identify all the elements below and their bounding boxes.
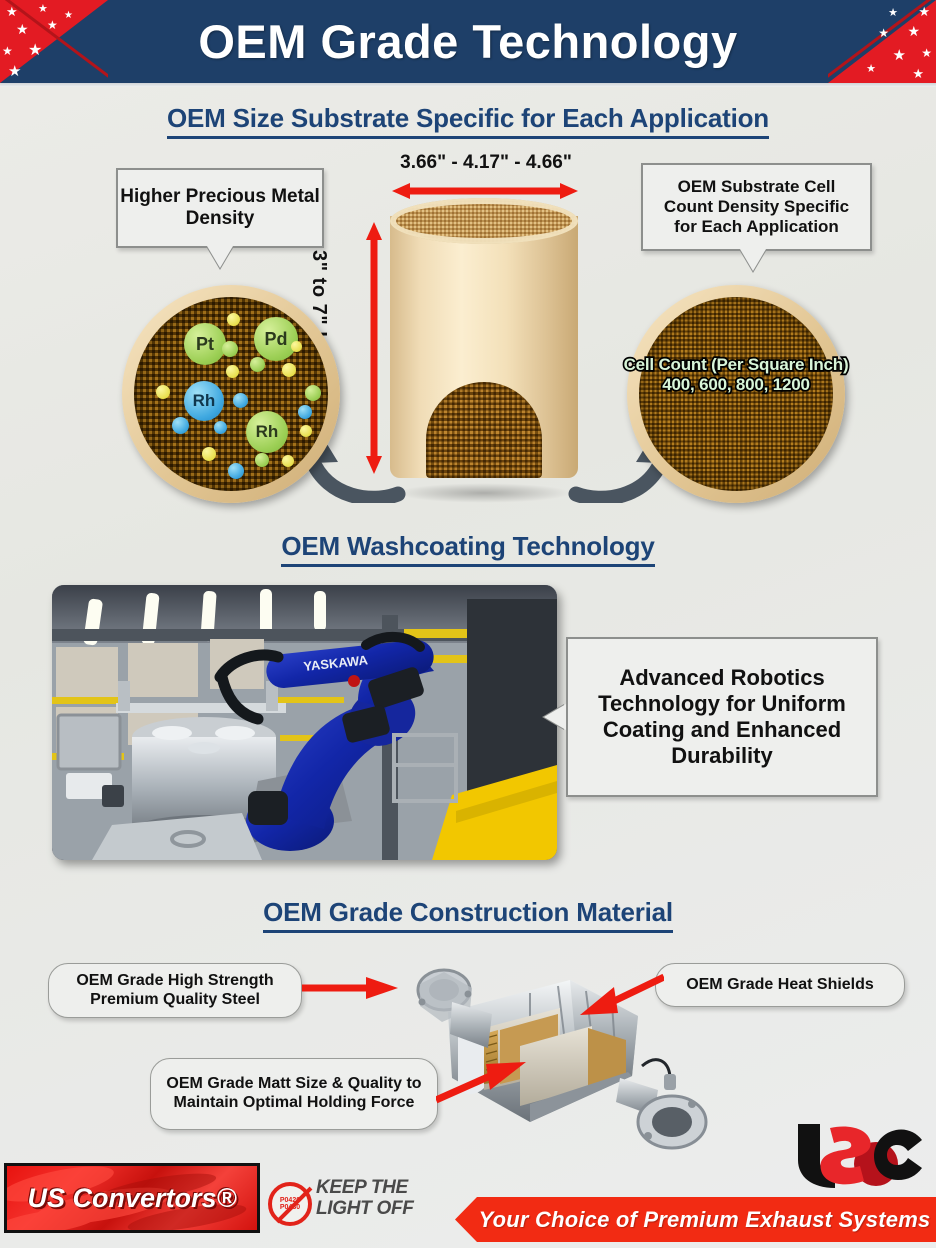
callout-advanced-robotics: Advanced Robotics Technology for Uniform… (566, 637, 878, 797)
callout-matt-size: OEM Grade Matt Size & Quality to Maintai… (150, 1058, 438, 1130)
robotics-photo-svg: YASKAWA (52, 585, 557, 860)
us-convertors-logo: US Convertors® (4, 1163, 260, 1233)
callout-text: OEM Grade Heat Shields (686, 976, 874, 995)
section-title-construction-text: OEM Grade Construction Material (263, 897, 673, 933)
metal-particle (226, 365, 239, 378)
callout-text: OEM Grade Matt Size & Quality to Maintai… (161, 1075, 427, 1113)
keep-light-line-2: LIGHT OFF (316, 1199, 414, 1220)
header-underline (0, 83, 936, 87)
cell-count-title: Cell Count (Per Square Inch) (586, 355, 886, 375)
substrate-circle-precious-metals: Pt Pd Rh Rh (122, 285, 340, 503)
robotics-photo: YASKAWA (52, 585, 557, 860)
metal-particle (228, 463, 244, 479)
callout-tail-left (207, 246, 233, 268)
cylinder-body (390, 216, 578, 478)
tagline-banner: Your Choice of Premium Exhaust Systems (455, 1197, 936, 1242)
metal-particle (282, 363, 296, 377)
cell-count-values: 400, 600, 800, 1200 (586, 375, 886, 395)
callout-tail-robotics (544, 704, 566, 730)
precious-metal-pd: Pd (254, 317, 298, 361)
metal-particle (172, 417, 189, 434)
callout-heat-shields: OEM Grade Heat Shields (655, 963, 905, 1007)
callout-higher-precious-metal-density: Higher Precious Metal Density (116, 168, 324, 248)
precious-metal-rh-blue: Rh (184, 381, 224, 421)
usc-logo (790, 1118, 930, 1190)
arrow-to-steel (302, 977, 398, 999)
arrow-to-matt (436, 1062, 526, 1104)
metal-particle (291, 341, 302, 352)
callout-text: Advanced Robotics Technology for Uniform… (578, 665, 866, 769)
section-title-construction: OEM Grade Construction Material (0, 897, 936, 928)
metal-particle (255, 453, 269, 467)
callout-text: OEM Substrate Cell Count Density Specifi… (651, 177, 862, 237)
metal-particle (298, 405, 312, 419)
metal-particle (222, 341, 238, 357)
usc-logo-svg (790, 1118, 930, 1190)
diameter-arrow (392, 183, 578, 199)
callout-text: OEM Grade High Strength Premium Quality … (57, 972, 293, 1010)
metal-particle (227, 313, 240, 326)
no-symbol-icon: P0420 P0430 (268, 1182, 312, 1226)
callout-text: Higher Precious Metal Density (118, 186, 322, 231)
section-title-size: OEM Size Substrate Specific for Each App… (0, 103, 936, 134)
precious-metal-rh-green: Rh (246, 411, 288, 453)
tagline-text: Your Choice of Premium Exhaust Systems (461, 1207, 931, 1233)
metal-particle (202, 447, 216, 461)
metal-particle (282, 455, 294, 467)
keep-the-light-off-badge: P0420 P0430 KEEP THE LIGHT OFF (268, 1178, 438, 1230)
section-title-washcoating-text: OEM Washcoating Technology (281, 531, 654, 567)
metal-particle (233, 393, 248, 408)
diameter-label: 3.66" - 4.17" - 4.66" (383, 152, 589, 174)
infographic-page: ★ ★ ★ ★ ★ ★ ★ ★ OEM Grade Technology ★ ★… (0, 0, 936, 1248)
section-title-washcoating: OEM Washcoating Technology (0, 531, 936, 562)
cylinder-honeycomb-cutaway (426, 382, 542, 478)
keep-light-line-1: KEEP THE (316, 1178, 414, 1199)
substrate-cylinder (390, 198, 578, 493)
callout-high-strength-steel: OEM Grade High Strength Premium Quality … (48, 963, 302, 1018)
page-title: OEM Grade Technology (0, 0, 936, 83)
keep-light-off-text: KEEP THE LIGHT OFF (316, 1178, 414, 1219)
metal-particle (250, 357, 265, 372)
brand-name: US Convertors® (7, 1166, 257, 1230)
honeycomb-face-left: Pt Pd Rh Rh (134, 297, 328, 491)
metal-particle (305, 385, 321, 401)
arrow-to-heat-shields (580, 973, 664, 1015)
section-title-size-text: OEM Size Substrate Specific for Each App… (167, 103, 769, 139)
callout-oem-substrate-cell-count: OEM Substrate Cell Count Density Specifi… (641, 163, 872, 251)
metal-particle (156, 385, 170, 399)
callout-tail-right (740, 249, 766, 271)
header-banner: ★ ★ ★ ★ ★ ★ ★ ★ OEM Grade Technology ★ ★… (0, 0, 936, 83)
metal-particle (214, 421, 227, 434)
cell-count-annotation: Cell Count (Per Square Inch) 400, 600, 8… (586, 355, 886, 394)
cylinder-shadow (396, 483, 572, 503)
precious-metal-pt: Pt (184, 323, 226, 365)
cylinder-top-rim (390, 198, 578, 244)
metal-particle (300, 425, 312, 437)
